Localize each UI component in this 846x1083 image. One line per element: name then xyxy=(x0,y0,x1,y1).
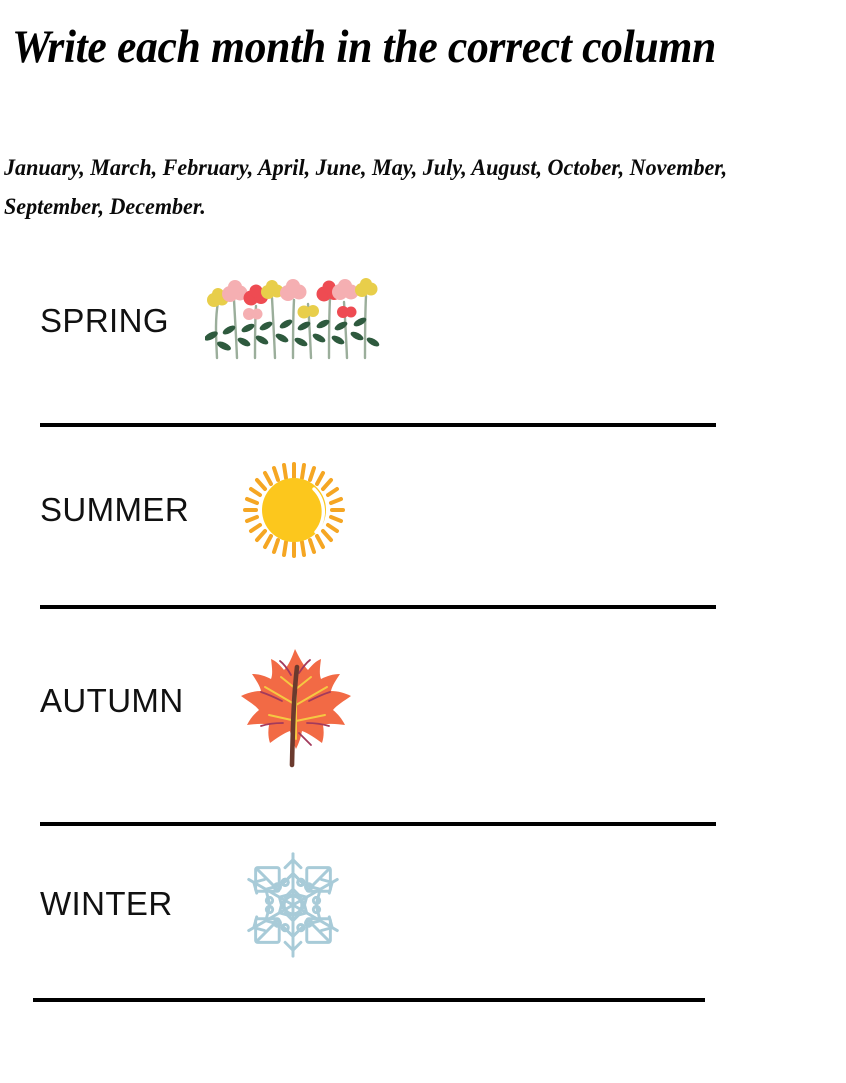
page-title: Write each month in the correct column xyxy=(12,16,784,78)
season-label-winter: WINTER xyxy=(40,885,173,923)
maple-leaf-icon xyxy=(237,643,357,768)
answer-line-summer[interactable] xyxy=(40,605,716,609)
season-label-summer: SUMMER xyxy=(40,491,189,529)
answer-line-winter[interactable] xyxy=(33,998,705,1002)
season-label-spring: SPRING xyxy=(40,302,169,340)
season-label-autumn: AUTUMN xyxy=(40,682,184,720)
snowflake-icon xyxy=(234,846,352,964)
worksheet-page: Write each month in the correct column J… xyxy=(0,0,846,1083)
answer-line-autumn[interactable] xyxy=(40,822,716,826)
answer-line-spring[interactable] xyxy=(40,423,716,427)
sun-icon xyxy=(238,458,350,562)
word-bank-months: January, March, February, April, June, M… xyxy=(4,148,791,226)
flowers-icon xyxy=(205,270,380,360)
